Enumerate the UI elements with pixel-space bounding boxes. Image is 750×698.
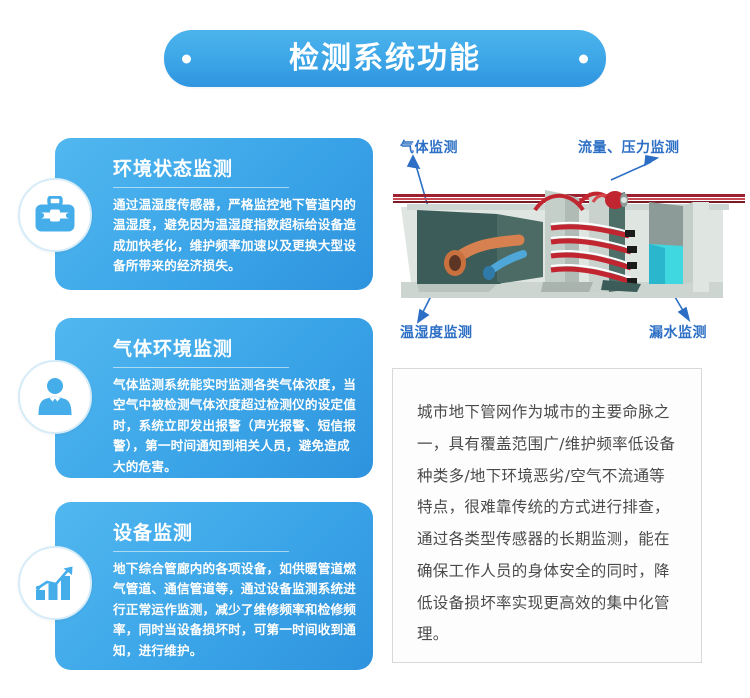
page-root: 检测系统功能 环境状态监测 通过温湿度传感器，严格监控地下管道内的温湿度，避免因…	[0, 0, 750, 698]
title-divider	[113, 551, 289, 552]
feature-card-gas-environment[interactable]: 气体环境监测 气体监测系统能实时监测各类气体浓度，当空气中被检测气体浓度超过检测…	[55, 318, 373, 478]
illustration-label-leak: 漏水监测	[649, 322, 707, 342]
feature-card-body: 气体监测系统能实时监测各类气体浓度，当空气中被检测气体浓度超过检测仪的设定值时，…	[113, 375, 357, 477]
illustration-label-gas: 气体监测	[400, 137, 458, 157]
businessperson-icon	[18, 360, 92, 434]
page-title-banner: 检测系统功能	[164, 30, 606, 87]
banner-dot-left-icon	[182, 54, 191, 63]
illustration-label-temp-humidity: 温湿度监测	[400, 322, 473, 342]
title-divider	[113, 187, 289, 188]
feature-card-title: 环境状态监测	[113, 154, 357, 181]
description-text: 城市地下管网作为城市的主要命脉之一，具有覆盖范围广/维护频率低设备种类多/地下环…	[393, 369, 701, 651]
illustration-label-flow-pressure: 流量、压力监测	[578, 137, 680, 157]
banner-dot-right-icon	[579, 54, 588, 63]
feature-card-body: 地下综合管廊内的各项设备，如供暖管道燃气管道、通信管道等，通过设备监测系统进行正…	[113, 559, 357, 661]
feature-card-body: 通过温湿度传感器，严格监控地下管道内的温湿度，避免因为温湿度指数超标给设备造成加…	[113, 195, 357, 277]
page-title: 检测系统功能	[289, 44, 481, 74]
tunnel-illustration: 气体监测 流量、压力监测 温湿度监测 漏水监测	[393, 132, 745, 350]
feature-card-title: 设备监测	[113, 518, 357, 545]
feature-card-title: 气体环境监测	[113, 334, 357, 361]
feature-card-environment-status[interactable]: 环境状态监测 通过温湿度传感器，严格监控地下管道内的温湿度，避免因为温湿度指数超…	[55, 138, 373, 290]
toolbox-icon	[18, 178, 92, 252]
title-divider	[113, 367, 289, 368]
description-box: 城市地下管网作为城市的主要命脉之一，具有覆盖范围广/维护频率低设备种类多/地下环…	[392, 368, 702, 663]
feature-card-equipment-monitor[interactable]: 设备监测 地下综合管廊内的各项设备，如供暖管道燃气管道、通信管道等，通过设备监测…	[55, 502, 373, 670]
bar-chart-growth-icon	[18, 546, 92, 620]
